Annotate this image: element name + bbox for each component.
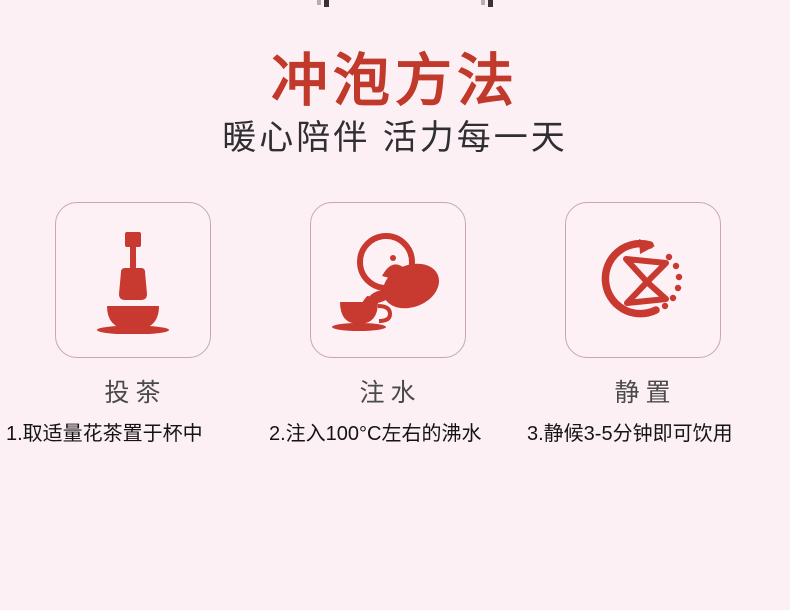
header-block: 冲泡方法 暖心陪伴 活力每一天 xyxy=(0,52,790,157)
hourglass-timer-icon xyxy=(594,233,692,327)
page-subtitle: 暖心陪伴 活力每一天 xyxy=(0,109,790,157)
step-3-heading: 静置 xyxy=(515,380,770,408)
step-1-icon-card xyxy=(55,202,211,358)
clipped-top-text-row xyxy=(0,0,790,9)
step-1-description: 1.取适量花茶置于杯中 xyxy=(6,420,224,450)
step-3-description: 3.静候3-5分钟即可饮用 xyxy=(527,420,745,450)
step-2-heading: 注水 xyxy=(260,380,515,408)
clipped-glyph-fragment xyxy=(324,0,329,7)
page-title: 冲泡方法 xyxy=(0,52,790,109)
clipped-glyph-fragment xyxy=(488,0,493,7)
step-3-icon-card xyxy=(565,202,721,358)
step-1-heading: 投茶 xyxy=(5,380,260,408)
step-column-3: 静置 3.静候3-5分钟即可饮用 xyxy=(515,202,770,449)
step-2-icon-card xyxy=(310,202,466,358)
clipped-glyph-fragment xyxy=(481,0,485,5)
step-column-1: 投茶 1.取适量花茶置于杯中 xyxy=(5,202,260,449)
tea-scoop-bowl-icon xyxy=(85,226,181,334)
clipped-glyph-fragment xyxy=(317,0,321,5)
step-2-description: 2.注入100°C左右的沸水 xyxy=(269,420,487,450)
brewing-steps-row: 投茶 1.取适量花茶置于杯中 xyxy=(0,202,790,449)
step-column-2: 注水 2.注入100°C左右的沸水 xyxy=(260,202,515,449)
teapot-pouring-cup-icon xyxy=(330,228,446,332)
